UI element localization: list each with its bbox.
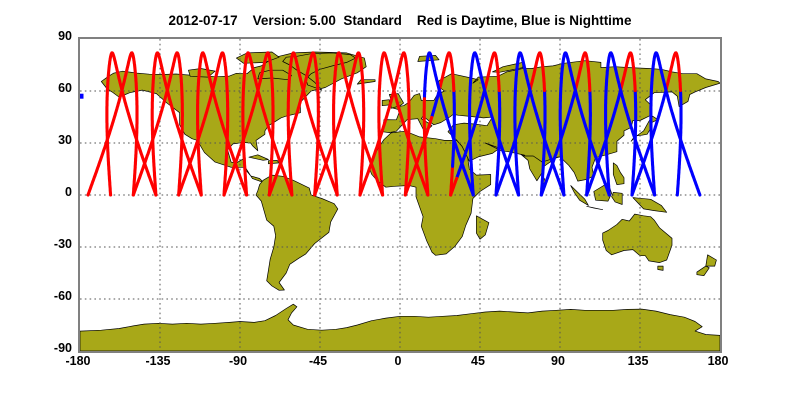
y-tick-label: 60	[58, 81, 72, 95]
x-tick-label: 90	[528, 354, 588, 368]
x-tick-label: -45	[288, 354, 348, 368]
map-canvas	[80, 39, 720, 351]
y-tick-label: 30	[58, 133, 72, 147]
ground-track-figure: 2012-07-17 Version: 5.00 Standard Red is…	[0, 0, 800, 400]
y-tick-label: -90	[54, 341, 72, 355]
y-tick-label: 90	[58, 29, 72, 43]
y-tick-label: 0	[65, 185, 72, 199]
x-tick-label: -180	[48, 354, 108, 368]
nighttime-ground-track	[453, 92, 455, 167]
x-tick-label: 135	[608, 354, 668, 368]
x-tick-label: 180	[688, 354, 748, 368]
page-title: 2012-07-17 Version: 5.00 Standard Red is…	[0, 13, 800, 28]
y-tick-label: -60	[54, 289, 72, 303]
x-tick-label: -90	[208, 354, 268, 368]
x-tick-label: 0	[368, 354, 428, 368]
landmass-ireland	[382, 100, 389, 106]
map-plot-area	[78, 37, 722, 353]
satellite-marker-layer	[80, 94, 84, 99]
x-tick-label: -135	[128, 354, 188, 368]
x-tick-label: 45	[448, 354, 508, 368]
y-tick-label: -30	[54, 237, 72, 251]
landmass-tasmania	[658, 266, 663, 270]
sub-satellite-point-marker	[80, 94, 84, 99]
